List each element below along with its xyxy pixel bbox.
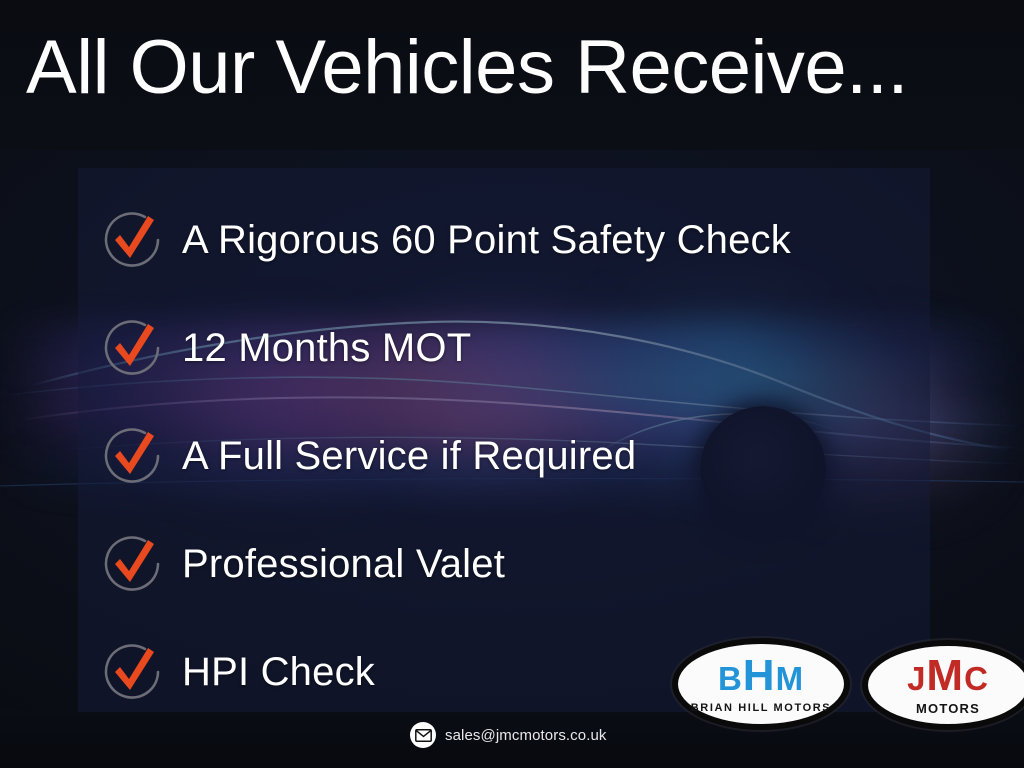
list-item: 12 Months MOT [98, 294, 918, 402]
logo-bhm-subtitle: BRIAN HILL MOTORS [691, 702, 831, 714]
logo-jmc-subtitle: MOTORS [916, 701, 980, 716]
list-item-label: HPI Check [182, 650, 375, 695]
logo-bhm: B H M BRIAN HILL MOTORS [672, 638, 850, 730]
logo-jmc-oval: J M C MOTORS [862, 640, 1024, 730]
logo-bhm-letter-b: B [718, 662, 743, 695]
logo-bhm-letter-m: M [776, 662, 805, 695]
logo-jmc-letter-m: M [926, 654, 964, 698]
list-item: Professional Valet [98, 510, 918, 618]
logo-bhm-mark: B H M [718, 654, 804, 698]
slide-canvas: All Our Vehicles Receive... A Rigorous 6… [0, 0, 1024, 768]
list-item: A Rigorous 60 Point Safety Check [98, 186, 918, 294]
check-circle-icon [98, 422, 166, 490]
logo-bhm-oval: B H M BRIAN HILL MOTORS [672, 638, 850, 730]
page-title: All Our Vehicles Receive... [26, 26, 1006, 110]
list-item: A Full Service if Required [98, 402, 918, 510]
contact-email-text: sales@jmcmotors.co.uk [445, 727, 607, 744]
list-item-label: 12 Months MOT [182, 326, 471, 371]
envelope-icon [410, 722, 436, 748]
logo-bhm-letter-h: H [743, 654, 776, 698]
contact-email-bar[interactable]: sales@jmcmotors.co.uk [410, 722, 607, 748]
logo-jmc-letter-j: J [907, 662, 926, 695]
logo-jmc-letter-c: C [964, 662, 989, 695]
check-circle-icon [98, 314, 166, 382]
logo-jmc-mark: J M C [907, 654, 989, 698]
logo-jmc: J M C MOTORS [862, 640, 1024, 730]
list-item-label: A Rigorous 60 Point Safety Check [182, 218, 791, 263]
list-item-label: Professional Valet [182, 542, 505, 587]
check-circle-icon [98, 206, 166, 274]
check-circle-icon [98, 530, 166, 598]
list-item-label: A Full Service if Required [182, 434, 636, 479]
check-circle-icon [98, 638, 166, 706]
